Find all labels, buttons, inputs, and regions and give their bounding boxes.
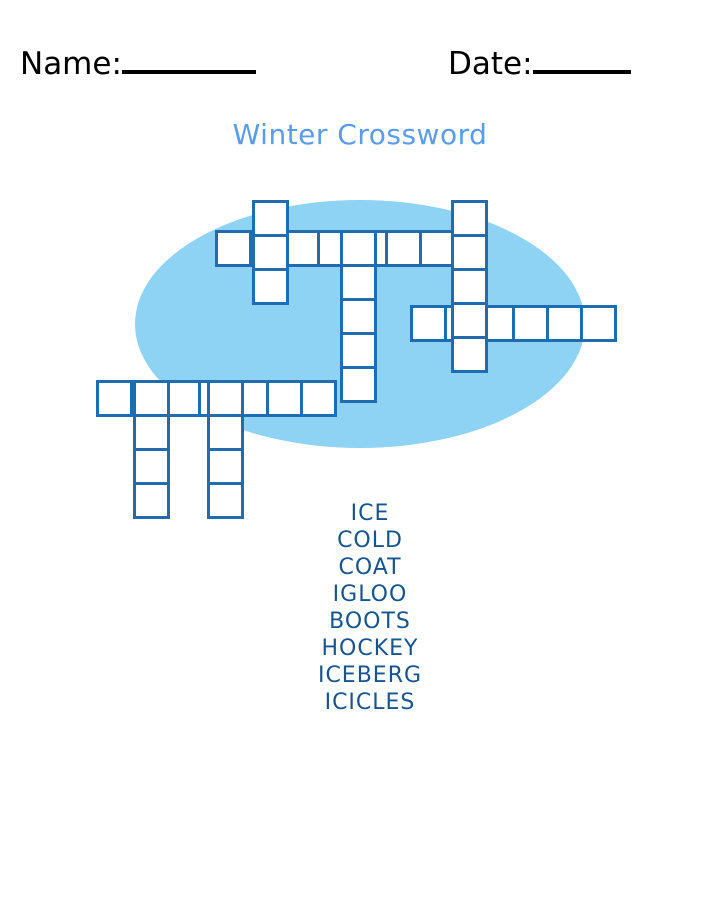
crossword-cell[interactable] [340,298,377,335]
crossword-cell[interactable] [133,380,170,417]
crossword-cell[interactable] [340,332,377,369]
crossword-cell[interactable] [546,305,583,342]
crossword-cell[interactable] [215,230,252,267]
crossword-cell[interactable] [207,380,244,417]
crossword-cell[interactable] [340,366,377,403]
crossword-cell[interactable] [252,268,289,305]
crossword-cell[interactable] [451,268,488,305]
word-bank-item: COLD [270,527,470,554]
word-bank-item: IGLOO [270,581,470,608]
word-bank-item: HOCKEY [270,635,470,662]
worksheet-page: Name: Date: Winter Crossword ICE COLD CO… [0,0,720,910]
crossword-cell[interactable] [207,414,244,451]
crossword-cell[interactable] [133,448,170,485]
crossword-grid [0,0,720,560]
word-bank-item: ICICLES [270,689,470,716]
crossword-cell[interactable] [300,380,337,417]
word-bank: ICE COLD COAT IGLOO BOOTS HOCKEY ICEBERG… [270,500,470,716]
crossword-cell[interactable] [133,414,170,451]
word-bank-item: BOOTS [270,608,470,635]
crossword-cell[interactable] [451,302,488,339]
crossword-cell[interactable] [340,264,377,301]
crossword-cell[interactable] [252,234,289,271]
crossword-cell[interactable] [207,448,244,485]
crossword-cell[interactable] [451,200,488,237]
crossword-cell[interactable] [133,482,170,519]
word-bank-item: COAT [270,554,470,581]
crossword-cell[interactable] [410,305,447,342]
crossword-cell[interactable] [385,230,422,267]
crossword-cell[interactable] [266,380,303,417]
crossword-cell[interactable] [512,305,549,342]
crossword-cell[interactable] [580,305,617,342]
word-bank-item: ICE [270,500,470,527]
crossword-cell[interactable] [451,336,488,373]
crossword-cell[interactable] [340,230,377,267]
crossword-cell[interactable] [252,200,289,237]
crossword-cell[interactable] [207,482,244,519]
word-bank-item: ICEBERG [270,662,470,689]
crossword-cell[interactable] [451,234,488,271]
crossword-cell[interactable] [96,380,133,417]
